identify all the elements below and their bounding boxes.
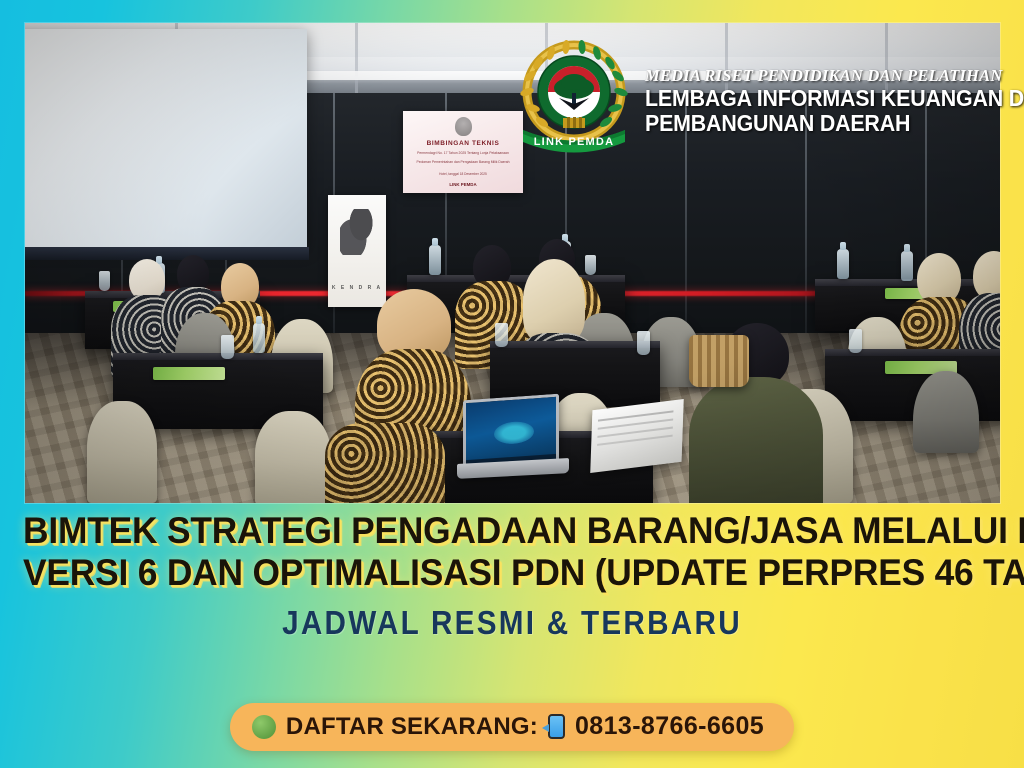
presentation-slide: BIMBINGAN TEKNIS Permendagri No. 17 Tahu…	[403, 111, 523, 193]
slide-subtitle-1: Permendagri No. 17 Tahun 2025 Tentang Lo…	[403, 151, 523, 156]
water-bottle	[253, 323, 265, 353]
link-pemda-logo: LINK PEMDA	[515, 38, 633, 156]
title-block: BIMTEK STRATEGI PENGADAAN BARANG/JASA ME…	[0, 510, 1024, 642]
cta-label: DAFTAR SEKARANG:	[286, 713, 538, 741]
event-title-line-2: VERSI 6 DAN OPTIMALISASI PDN (UPDATE PER…	[23, 552, 1001, 594]
brand-kicker: MEDIA RISET PENDIDIKAN DAN PELATIHAN	[645, 66, 1024, 86]
slide-subtitle-2: Pedoman Pemerintahan dan Pengadaan Baran…	[403, 160, 523, 165]
event-subtitle: JADWAL RESMI & TERBARU	[51, 604, 973, 642]
water-glass	[495, 323, 508, 347]
water-glass	[849, 329, 862, 353]
garuda-crest-icon	[455, 117, 472, 136]
chair	[255, 411, 331, 503]
cta-phone-number[interactable]: 0813-8766-6605	[575, 712, 764, 741]
water-glass	[221, 335, 234, 359]
water-glass	[99, 271, 110, 291]
projector-screen	[25, 29, 307, 247]
slide-date: Hotel, tanggal 18 Desember 2025	[403, 172, 523, 176]
water-bottle	[901, 251, 913, 281]
register-now-button[interactable]: DAFTAR SEKARANG: 0813-8766-6605	[230, 703, 794, 751]
chair	[913, 371, 979, 453]
event-title-line-1: BIMTEK STRATEGI PENGADAAN BARANG/JASA ME…	[23, 510, 1001, 552]
banner-stand: K E N D R A	[328, 195, 386, 307]
brand-text-block: MEDIA RISET PENDIDIKAN DAN PELATIHAN LEM…	[645, 58, 1024, 136]
mobile-phone-icon	[548, 714, 565, 739]
chair	[87, 401, 157, 503]
brand-name-line-1: LEMBAGA INFORMASI KEUANGAN DAN	[645, 86, 1024, 111]
projector-screen-base	[25, 247, 309, 260]
banner-stand-text: K E N D R A	[328, 285, 386, 291]
bird-graphic-icon	[340, 209, 374, 255]
water-glass	[585, 255, 596, 275]
slide-title: BIMBINGAN TEKNIS	[403, 140, 523, 147]
water-glass	[637, 331, 650, 355]
svg-text:LINK PEMDA: LINK PEMDA	[534, 136, 614, 148]
cta-region: DAFTAR SEKARANG: 0813-8766-6605	[0, 703, 1024, 751]
water-bottle	[429, 245, 441, 275]
water-bottle	[837, 249, 849, 279]
slide-footer: LINK PEMDA	[403, 182, 523, 187]
laptop-screen	[463, 394, 559, 467]
document-stack	[590, 399, 684, 473]
brand-header: LINK PEMDA MEDIA RISET PENDIDIKAN DAN PE…	[515, 38, 1024, 156]
green-circle-icon	[252, 715, 276, 739]
woven-bag	[689, 335, 749, 387]
brand-name-line-2: PEMBANGUNAN DAERAH	[645, 111, 1024, 136]
